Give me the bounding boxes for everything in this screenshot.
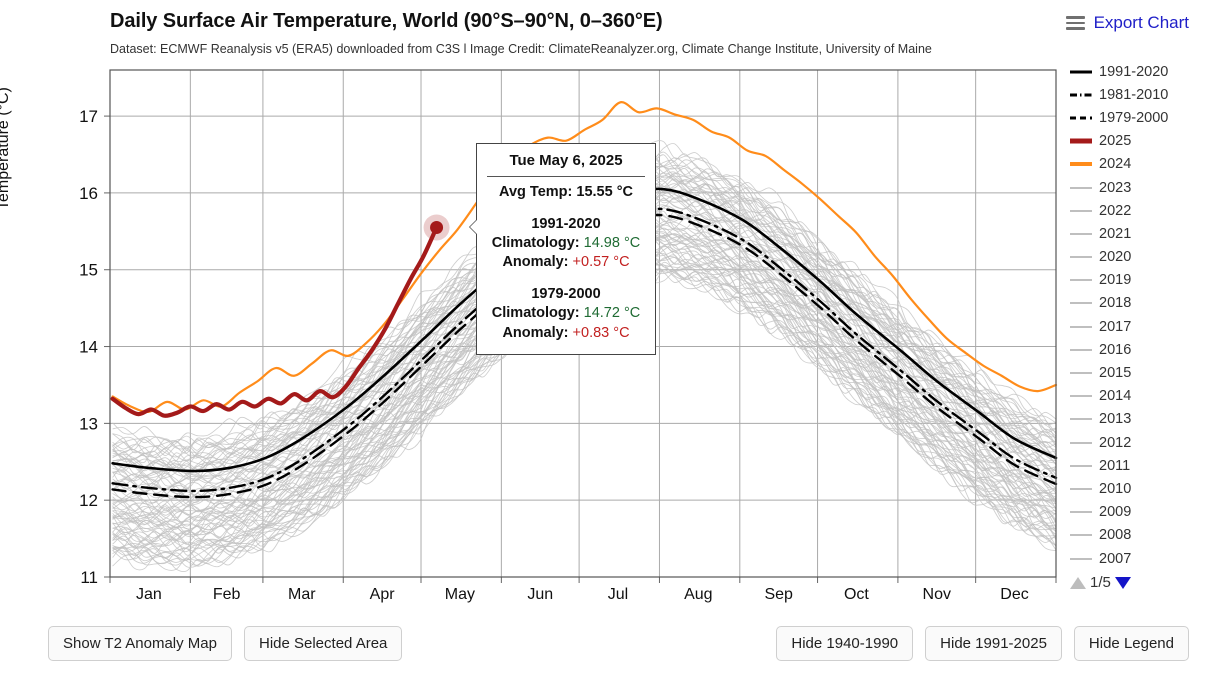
legend-item-2017[interactable]: 2017 (1070, 315, 1205, 338)
legend-label: 2025 (1099, 133, 1131, 149)
tooltip-anomaly-value: +0.83 °C (573, 325, 630, 341)
legend-label: 1979-2000 (1099, 110, 1168, 126)
legend-item-1979-2000[interactable]: 1979-2000 (1070, 106, 1205, 129)
legend-label: 2021 (1099, 226, 1131, 242)
legend-swatch (1070, 413, 1092, 425)
tooltip-climatology-label: Climatology: (492, 235, 580, 251)
legend-item-2012[interactable]: 2012 (1070, 431, 1205, 454)
legend-item-2021[interactable]: 2021 (1070, 222, 1205, 245)
legend-label: 2014 (1099, 388, 1131, 404)
button-hide-legend[interactable]: Hide Legend (1074, 626, 1189, 661)
legend-swatch (1070, 529, 1092, 541)
y-tick-label: 12 (79, 491, 98, 510)
legend-label: 2010 (1099, 481, 1131, 497)
legend-label: 2007 (1099, 551, 1131, 567)
legend-label: 2009 (1099, 504, 1131, 520)
y-tick-label: 13 (79, 414, 98, 433)
series-line-2025[interactable] (113, 227, 437, 415)
x-tick-label: Feb (213, 586, 241, 603)
tooltip-climatology: Climatology: 14.72 °C (485, 304, 647, 323)
legend-swatch (1070, 205, 1092, 217)
tooltip-anomaly: Anomaly: +0.83 °C (485, 324, 647, 343)
legend-label: 2020 (1099, 249, 1131, 265)
legend-label: 2015 (1099, 365, 1131, 381)
legend-swatch (1070, 158, 1092, 170)
left-button-row[interactable]: Show T2 Anomaly MapHide Selected Area (48, 626, 402, 661)
tooltip-climatology-label: Climatology: (492, 305, 580, 321)
legend-label: 2019 (1099, 272, 1131, 288)
legend-swatch (1070, 506, 1092, 518)
legend-label: 2016 (1099, 342, 1131, 358)
legend-label: 2013 (1099, 411, 1131, 427)
legend-swatch (1070, 297, 1092, 309)
legend-item-2015[interactable]: 2015 (1070, 361, 1205, 384)
legend-swatch (1070, 367, 1092, 379)
legend-swatch (1070, 483, 1092, 495)
tooltip-anomaly-label: Anomaly: (502, 254, 568, 270)
legend-item-1981-2010[interactable]: 1981-2010 (1070, 83, 1205, 106)
tooltip-climatology-value: 14.72 °C (584, 305, 641, 321)
legend-label: 1991-2020 (1099, 64, 1168, 80)
tooltip-pointer-icon (470, 220, 477, 234)
legend-item-2008[interactable]: 2008 (1070, 524, 1205, 547)
triangle-up-icon[interactable] (1070, 577, 1086, 589)
tooltip-climatology: Climatology: 14.98 °C (485, 234, 647, 253)
legend-swatch (1070, 228, 1092, 240)
legend[interactable]: 1991-20201981-20101979-20002025202420232… (1070, 60, 1205, 591)
x-tick-label: Jan (136, 586, 162, 603)
y-tick-label: 14 (79, 338, 98, 357)
x-tick-label: Mar (288, 586, 316, 603)
legend-swatch (1070, 112, 1092, 124)
legend-label: 2024 (1099, 156, 1131, 172)
legend-item-2011[interactable]: 2011 (1070, 454, 1205, 477)
legend-swatch (1070, 344, 1092, 356)
tooltip-block-1991-2020: 1991-2020 Climatology: 14.98 °C Anomaly:… (485, 215, 647, 272)
x-tick-label: Aug (684, 586, 712, 603)
legend-item-2014[interactable]: 2014 (1070, 385, 1205, 408)
legend-item-2025[interactable]: 2025 (1070, 130, 1205, 153)
legend-label: 2018 (1099, 295, 1131, 311)
y-tick-label: 17 (79, 107, 98, 126)
button-hide-selected-area[interactable]: Hide Selected Area (244, 626, 402, 661)
legend-item-2009[interactable]: 2009 (1070, 501, 1205, 524)
x-tick-label: Apr (370, 586, 396, 603)
x-tick-label: Jul (608, 586, 628, 603)
legend-swatch (1070, 274, 1092, 286)
tooltip-period: 1979-2000 (485, 285, 647, 304)
legend-swatch (1070, 437, 1092, 449)
tooltip-anomaly: Anomaly: +0.57 °C (485, 253, 647, 272)
legend-item-2018[interactable]: 2018 (1070, 292, 1205, 315)
tooltip-climatology-value: 14.98 °C (584, 235, 641, 251)
x-tick-label: Sep (764, 586, 793, 603)
legend-swatch (1070, 89, 1092, 101)
button-hide-1991-2025[interactable]: Hide 1991-2025 (925, 626, 1062, 661)
tooltip-avg-label: Avg Temp: (499, 184, 572, 200)
tooltip-avg-value: 15.55 °C (576, 184, 633, 200)
tooltip-period: 1991-2020 (485, 215, 647, 234)
legend-swatch (1070, 135, 1092, 147)
legend-label: 1981-2010 (1099, 87, 1168, 103)
tooltip-anomaly-label: Anomaly: (502, 325, 568, 341)
x-tick-label: Oct (844, 586, 869, 603)
x-tick-label: May (445, 586, 475, 603)
legend-swatch (1070, 182, 1092, 194)
x-tick-label: Dec (1000, 586, 1028, 603)
x-tick-label: Nov (923, 586, 951, 603)
legend-item-2007[interactable]: 2007 (1070, 547, 1205, 570)
legend-item-2023[interactable]: 2023 (1070, 176, 1205, 199)
legend-swatch (1070, 321, 1092, 333)
triangle-down-icon[interactable] (1115, 577, 1131, 589)
tooltip-divider (487, 176, 645, 177)
legend-label: 2011 (1099, 458, 1130, 474)
legend-item-1991-2020[interactable]: 1991-2020 (1070, 60, 1205, 83)
y-tick-label: 16 (79, 184, 98, 203)
button-hide-1940-1990[interactable]: Hide 1940-1990 (776, 626, 913, 661)
x-tick-label: Jun (527, 586, 553, 603)
legend-label: 2008 (1099, 527, 1131, 543)
legend-pager[interactable]: 1/5 (1070, 574, 1205, 591)
legend-swatch (1070, 251, 1092, 263)
legend-item-2016[interactable]: 2016 (1070, 338, 1205, 361)
legend-page-indicator: 1/5 (1090, 574, 1111, 591)
legend-item-2019[interactable]: 2019 (1070, 269, 1205, 292)
current-value-marker[interactable] (430, 221, 443, 234)
legend-item-2010[interactable]: 2010 (1070, 477, 1205, 500)
legend-swatch (1070, 460, 1092, 472)
tooltip-block-1979-2000: 1979-2000 Climatology: 14.72 °C Anomaly:… (485, 285, 647, 342)
y-tick-label: 15 (79, 261, 98, 280)
y-tick-label: 11 (80, 568, 98, 587)
tooltip-date: Tue May 6, 2025 (485, 151, 647, 176)
legend-label: 2012 (1099, 435, 1131, 451)
legend-item-2013[interactable]: 2013 (1070, 408, 1205, 431)
right-button-row[interactable]: Hide 1940-1990Hide 1991-2025Hide Legend (776, 626, 1189, 661)
y-axis-label: Temperature (°C) (0, 87, 13, 210)
legend-label: 2023 (1099, 180, 1131, 196)
legend-label: 2022 (1099, 203, 1131, 219)
tooltip-anomaly-value: +0.57 °C (573, 254, 630, 270)
legend-item-2020[interactable]: 2020 (1070, 246, 1205, 269)
legend-swatch (1070, 553, 1092, 565)
legend-item-2022[interactable]: 2022 (1070, 199, 1205, 222)
data-tooltip: Tue May 6, 2025 Avg Temp: 15.55 °C 1991-… (476, 143, 656, 355)
legend-swatch (1070, 66, 1092, 78)
button-show-t2-anomaly-map[interactable]: Show T2 Anomaly Map (48, 626, 232, 661)
tooltip-avg-temp: Avg Temp: 15.55 °C (485, 183, 647, 202)
legend-item-2024[interactable]: 2024 (1070, 153, 1205, 176)
legend-swatch (1070, 390, 1092, 402)
legend-label: 2017 (1099, 319, 1131, 335)
